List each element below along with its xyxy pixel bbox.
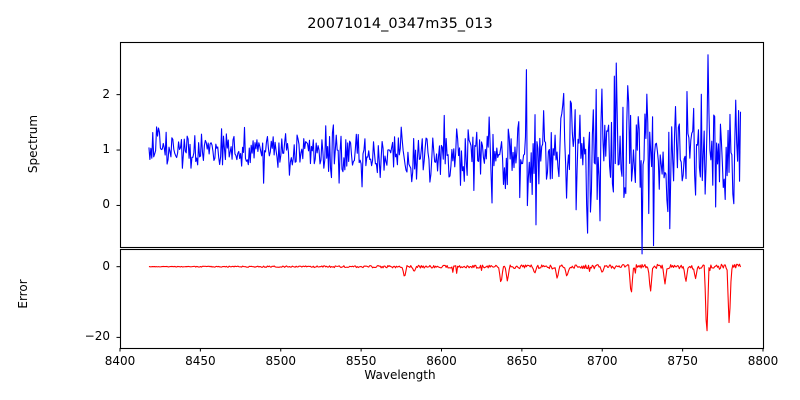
page-title: 20071014_0347m35_013 [0,16,800,32]
y-axis-error-tick-label: 0 [50,259,110,273]
x-axis-tick-label: 8550 [331,354,391,368]
x-axis-tick-label: 8450 [170,354,230,368]
y-axis-spectrum-tick-label: 1 [50,142,110,156]
error-trace [149,264,741,331]
spectrum-trace [149,55,741,254]
spectrum-panel-frame [121,43,764,248]
x-axis-tick-label: 8600 [412,354,472,368]
y-axis-label-spectrum: Spectrum [26,94,40,194]
x-axis-tick-label: 8750 [653,354,713,368]
y-axis-spectrum-tick-label: 2 [50,87,110,101]
y-axis-label-error: Error [16,264,30,324]
x-axis-tick-label: 8650 [492,354,552,368]
spectrum-figure: 20071014_0347m35_013 Spectrum Error Wave… [0,0,800,400]
x-axis-tick-label: 8400 [90,354,150,368]
x-axis-tick-label: 8500 [251,354,311,368]
y-axis-spectrum-tick-label: 0 [50,197,110,211]
x-axis-label: Wavelength [0,368,800,382]
x-axis-tick-label: 8800 [733,354,793,368]
x-axis-tick-label: 8700 [572,354,632,368]
plot-canvas [0,0,800,400]
y-axis-error-tick-label: −20 [50,329,110,343]
error-panel-frame [121,250,764,349]
